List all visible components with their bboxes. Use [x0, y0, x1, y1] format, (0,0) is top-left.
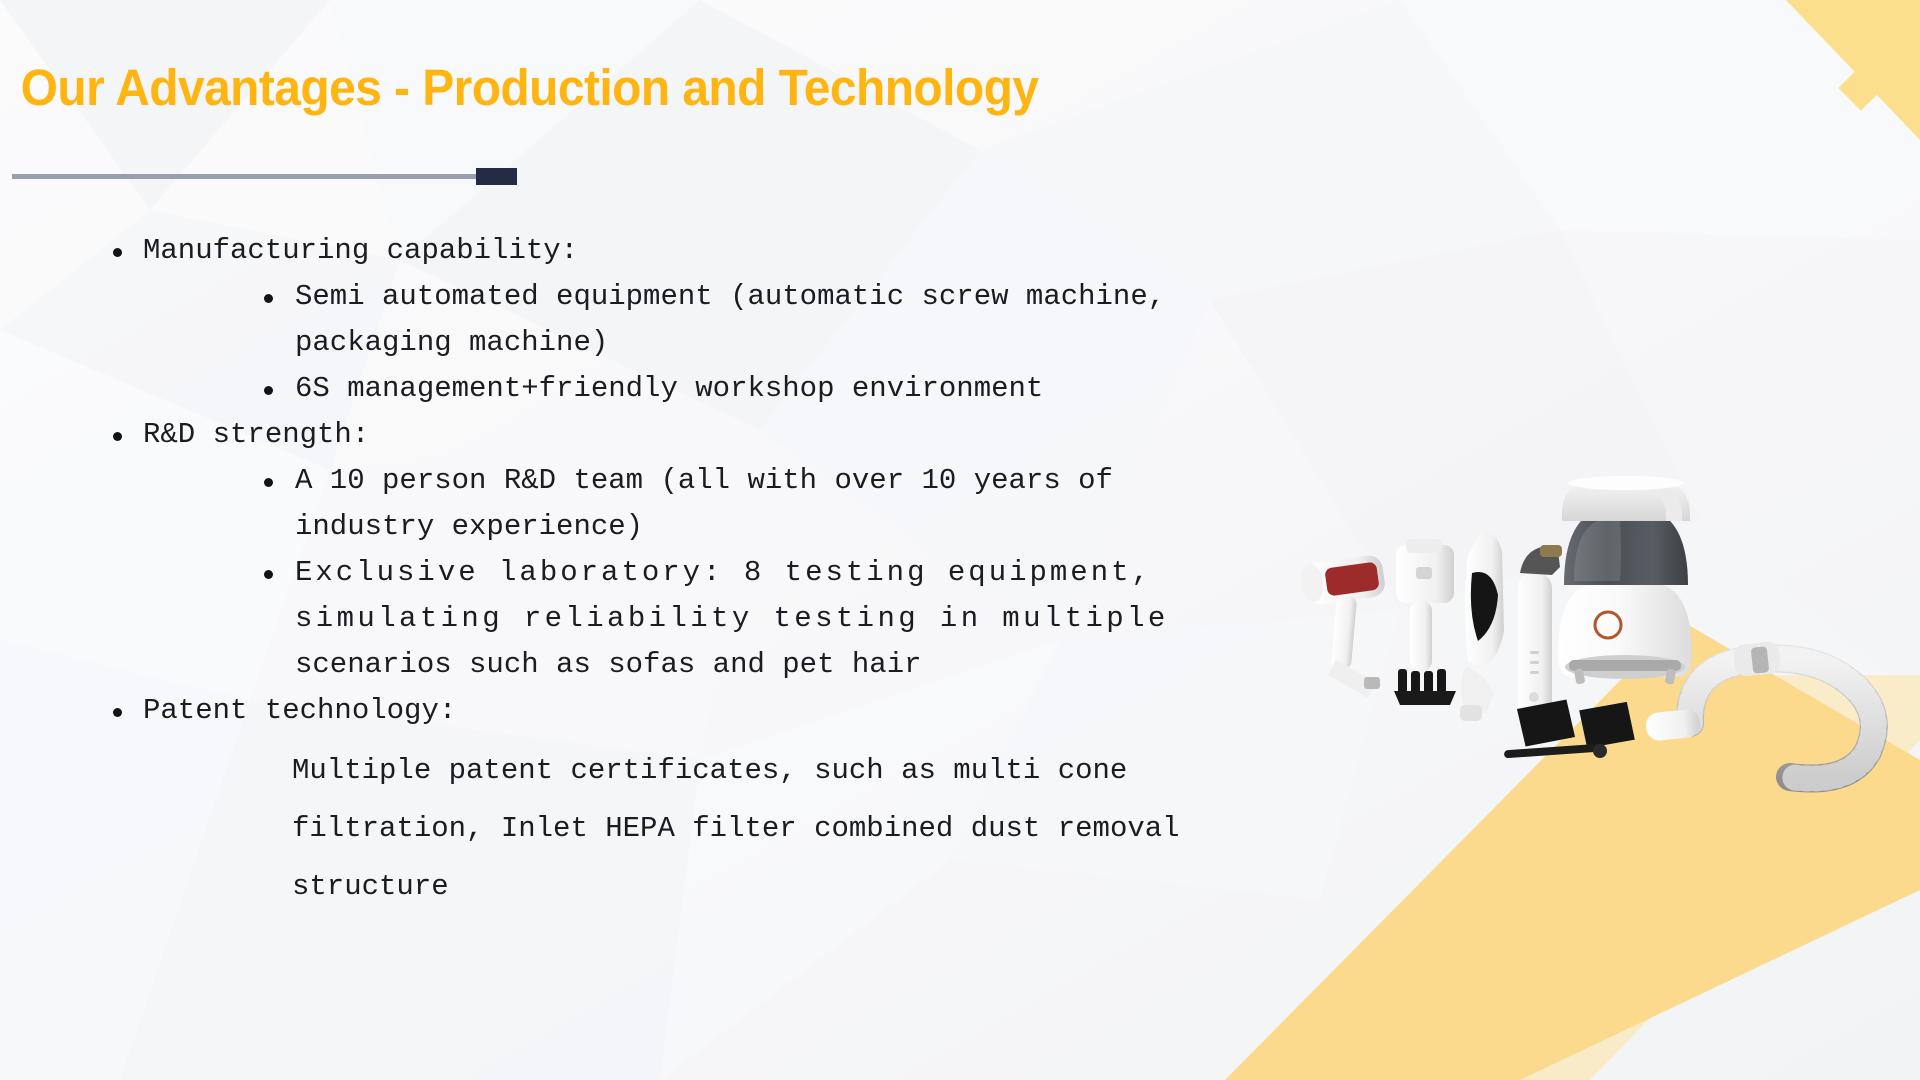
- bullet-dot-icon: [113, 248, 122, 257]
- flexible-hose: [1645, 641, 1874, 779]
- bullet-dot-icon: [264, 386, 273, 395]
- paragraph-line: Multiple patent certificates, such as mu…: [292, 754, 1127, 787]
- title-block: Our Advantages - Production and Technolo…: [0, 60, 1300, 115]
- list-item-line: industry experience): [295, 504, 1290, 550]
- main-vacuum-unit: [1558, 476, 1692, 685]
- bullet-dot-icon: [113, 708, 122, 717]
- bullet-dot-icon: [264, 570, 273, 579]
- list-item-line: scenarios such as sofas and pet hair: [295, 642, 1290, 688]
- page-title: Our Advantages - Production and Technolo…: [0, 60, 1222, 115]
- list-item: Manufacturing capability:: [0, 228, 1290, 274]
- handheld-wand: [1518, 545, 1562, 725]
- cleaning-pads: [1504, 699, 1635, 758]
- title-underline-rule: [12, 174, 476, 179]
- list-item-line: 6S management+friendly workshop environm…: [295, 366, 1290, 412]
- paragraph-line: filtration, Inlet HEPA filter combined d…: [292, 812, 1040, 845]
- list-item-line: A 10 person R&D team (all with over 10 y…: [295, 458, 1290, 504]
- brush-head-tool: [1394, 539, 1456, 705]
- spacer: [0, 734, 1290, 742]
- bullet-dot-icon: [264, 294, 273, 303]
- title-underline-cap: [476, 168, 517, 185]
- list-item-label: Manufacturing capability:: [143, 234, 578, 267]
- list-item: A 10 person R&D team (all with over 10 y…: [0, 458, 1290, 550]
- presentation-slide: Our Advantages - Production and Technolo…: [0, 0, 1920, 1080]
- list-item: R&D strength:: [0, 412, 1290, 458]
- list-item-line: simulating reliability testing in multip…: [295, 596, 1290, 642]
- yellow-diamond-decoration: [1838, 65, 1883, 110]
- crevice-tool: [1460, 532, 1504, 721]
- list-item: Exclusive laboratory: 8 testing equipmen…: [0, 550, 1290, 688]
- product-photo-vacuum-set: [1290, 455, 1910, 795]
- list-item: Semi automated equipment (automatic scre…: [0, 274, 1290, 366]
- list-item-line: Exclusive laboratory: 8 testing equipmen…: [295, 550, 1290, 596]
- bullet-dot-icon: [113, 432, 122, 441]
- list-item: Patent technology:: [0, 688, 1290, 734]
- roller-tool: [1298, 554, 1386, 698]
- list-item-line: packaging machine): [295, 320, 1290, 366]
- list-item-line: Semi automated equipment (automatic scre…: [295, 274, 1290, 320]
- list-item: 6S management+friendly workshop environm…: [0, 366, 1290, 412]
- slide-body-content: Manufacturing capability: Semi automated…: [0, 228, 1290, 916]
- top-right-yellow-decoration: [1720, 0, 1920, 200]
- patent-paragraph: Multiple patent certificates, such as mu…: [0, 742, 1290, 916]
- list-item-label: Patent technology:: [143, 694, 456, 727]
- list-item-label: R&D strength:: [143, 418, 369, 451]
- bullet-dot-icon: [264, 478, 273, 487]
